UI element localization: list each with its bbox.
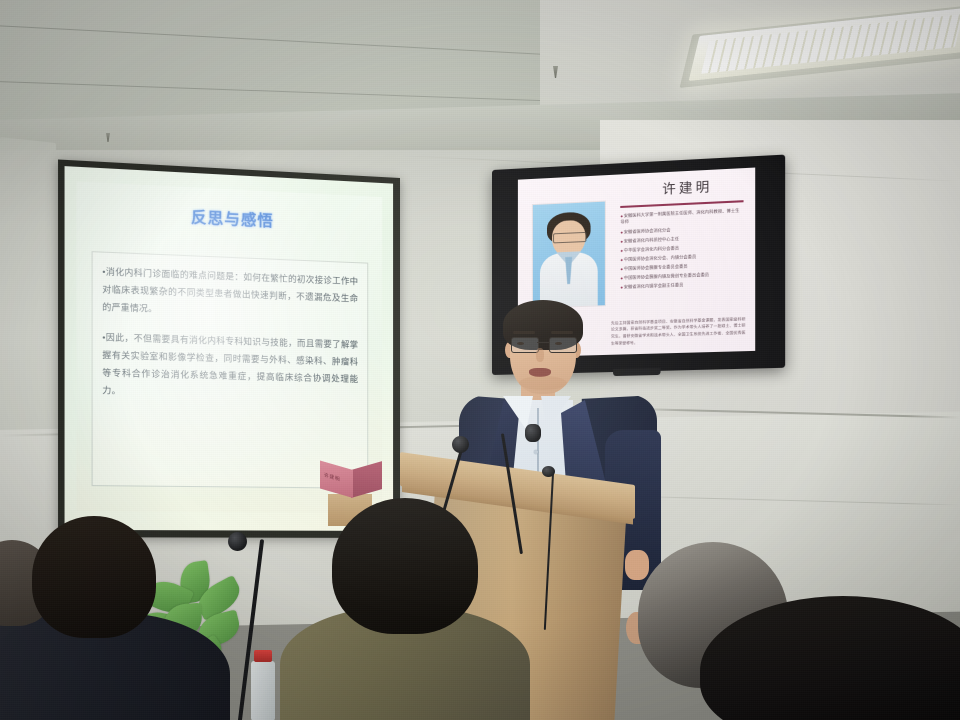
- water-bottle: [250, 650, 276, 720]
- bottle-body: [251, 661, 275, 720]
- audience-member-black-hair-right: [700, 596, 960, 720]
- microphone-head-right: [525, 424, 541, 442]
- slide-left-title: 反思与感悟: [76, 200, 382, 236]
- speaker-portrait-photo: [532, 200, 606, 309]
- bottle-cap: [254, 650, 272, 662]
- audience-member-olive-jacket: [286, 498, 522, 720]
- monitor-bullet-list: 安徽医科大学第一附属医院主任医师、消化内科教授、博士生导师 安徽省医师协会消化分…: [620, 207, 743, 293]
- nameplate-face-right: [351, 461, 382, 498]
- slide-left-paragraph: •消化内科门诊面临的难点问题是：如何在繁忙的初次接诊工作中对临床表现繁杂的不同类…: [102, 263, 358, 324]
- conference-hall-photo: 反思与感悟 •消化内科门诊面临的难点问题是：如何在繁忙的初次接诊工作中对临床表现…: [0, 0, 960, 720]
- cable-clip: [542, 466, 555, 477]
- slide-left-paragraph: •因此，不但需要具有消化内科专科知识与技能，而且需要了解掌握有关实验室和影像学检…: [102, 329, 358, 405]
- audience-head: [700, 596, 960, 720]
- audience-head: [332, 498, 478, 634]
- monitor-slide-rule: [620, 200, 743, 207]
- bullet-item: 安徽省消化内镜学会副主任委员: [620, 280, 743, 291]
- monitor-slide-title: 许建明: [625, 174, 750, 200]
- slide-left-text-box: •消化内科门诊面临的难点问题是：如何在繁忙的初次接诊工作中对临床表现繁杂的不同类…: [92, 251, 369, 489]
- microphone-head-left: [452, 436, 469, 453]
- audience-head: [32, 516, 156, 638]
- microphone-head-floor-stand: [228, 532, 247, 551]
- audience-member-dark-suit: [0, 516, 230, 720]
